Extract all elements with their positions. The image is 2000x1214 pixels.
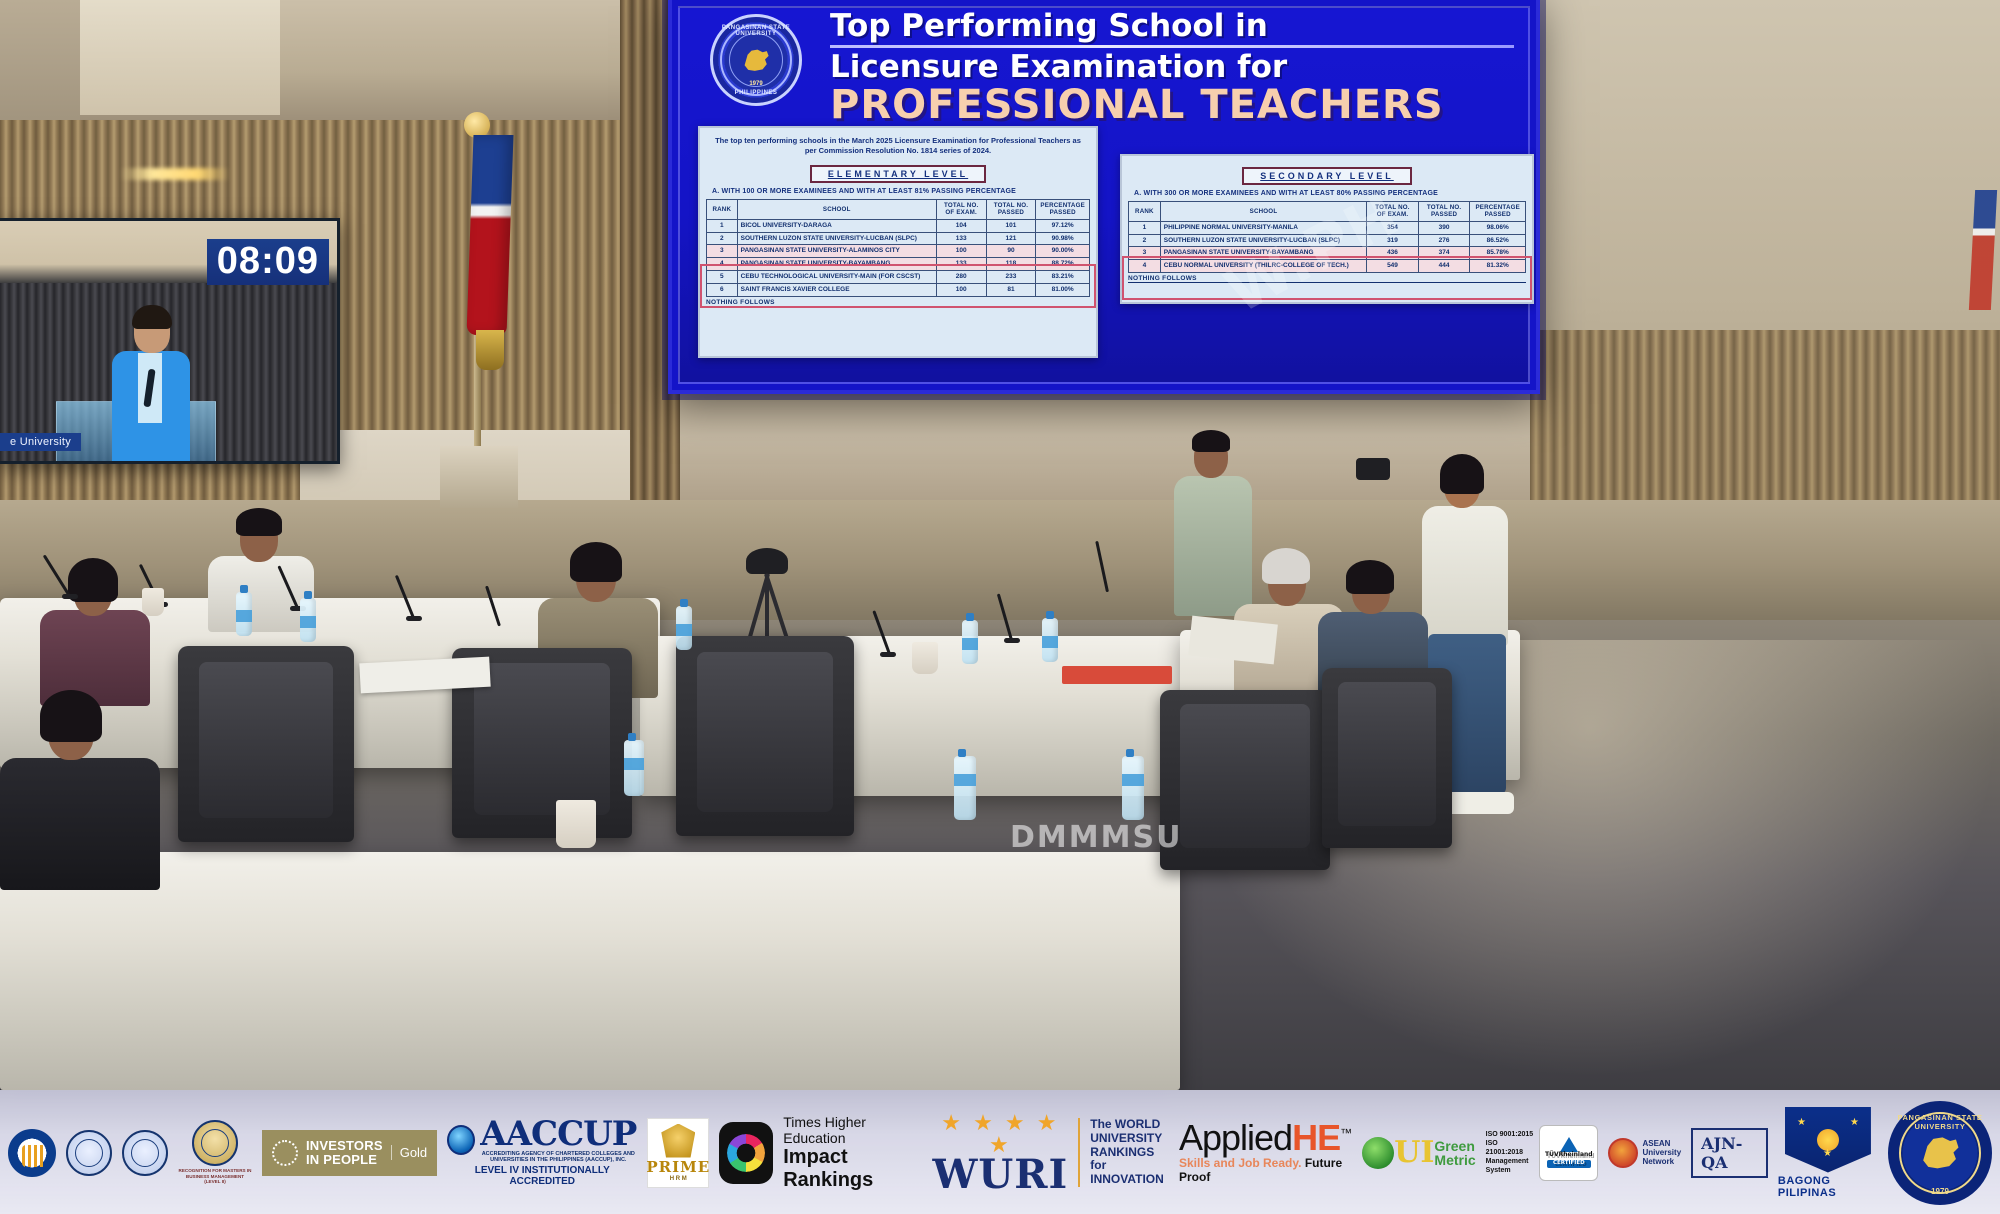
greenmetric-globe-icon [1362,1137,1394,1169]
the-line1: Times Higher Education [783,1114,922,1146]
aun-line1: ASEAN [1642,1139,1681,1148]
tuv-certified-badge: CERTIFIED [1547,1160,1591,1168]
table-row: 3 PANGASINAN STATE UNIVERSITY-BAYAMBANG … [1129,247,1526,260]
cell-rank: 3 [1129,247,1161,260]
cell-exam: 100 [936,283,986,296]
applied-block: AppliedHE™ Skills and Job Ready. Future … [1179,1121,1352,1183]
col-school: SCHOOL [737,200,936,220]
cell-school: PHILIPPINE NORMAL UNIVERSITY-MANILA [1160,221,1366,234]
aaccup-subtitle: ACCREDITING AGENCY OF CHARTERED COLLEGES… [479,1151,637,1163]
cell-school: SAINT FRANCIS XAVIER COLLEGE [737,283,936,296]
psu-seal-icon [122,1130,168,1176]
table-row: 1 PHILIPPINE NORMAL UNIVERSITY-MANILA 35… [1129,221,1526,234]
wuri-block: ★ ★ ★ ★ ★ WURI [932,1112,1068,1194]
water-bottle [1042,618,1058,662]
cell-passed: 390 [1418,221,1470,234]
cell-rank: 2 [1129,234,1161,247]
water-bottle [300,598,316,642]
star-icon: ★ [1797,1117,1806,1128]
coffee-cup [142,588,164,616]
table-row: 6 SAINT FRANCIS XAVIER COLLEGE 100 81 81… [707,283,1090,296]
cell-school: BICOL UNIVERSITY-DARAGA [737,219,936,232]
iip-block: INVESTORS IN PEOPLE Gold [262,1130,437,1176]
aun-line2: University [1642,1148,1681,1157]
cell-school: PANGASINAN STATE UNIVERSITY-BAYAMBANG [737,258,936,271]
cell-school: SOUTHERN LUZON STATE UNIVERSITY-LUCBAN (… [1160,234,1366,247]
cell-pct: 81.32% [1470,260,1526,273]
flag-cloth [467,135,514,335]
cell-pct: 98.06% [1470,221,1526,234]
table-row: 3 PANGASINAN STATE UNIVERSITY-ALAMINOS C… [707,245,1090,258]
water-bottle [962,620,978,664]
tripod-camera-head [746,548,788,574]
secondary-table-body: 1 PHILIPPINE NORMAL UNIVERSITY-MANILA 35… [1129,221,1526,272]
iso-text-block: ISO 9001:2015 ISO 21001:2018 Management … [1486,1130,1533,1175]
col-rank: RANK [1129,202,1161,222]
wreath-icon [272,1140,298,1166]
bagong-label: BAGONG PILIPINAS [1778,1175,1878,1199]
cell-passed: 90 [986,245,1036,258]
cell-exam: 436 [1367,247,1419,260]
screenshot-root: 08:09 e University PANGASINAN STATE UNIV… [0,0,2000,1214]
psu-seal-year: 1979 [1891,1187,1989,1196]
slide-title-line1: Top Performing School in [830,10,1514,43]
the-text-block: Times Higher Education Impact Rankings [783,1114,922,1192]
cell-pct: 97.12% [1036,219,1090,232]
wuri-stars: ★ ★ ★ ★ ★ [932,1112,1068,1156]
cell-pct: 85.78% [1470,247,1526,260]
ui-greenmetric-logo: UI Green Metric [1362,1107,1475,1199]
delegate-top [0,758,160,890]
water-bottle [236,592,252,636]
secondary-criteria: A. WITH 300 OR MORE EXAMINEES AND WITH A… [1134,190,1526,197]
aaccup-logo: AACCUP ACCREDITING AGENCY OF CHARTERED C… [447,1107,637,1199]
coffee-cup [556,800,596,848]
delegate [0,690,160,890]
ched-seal-logo [66,1107,112,1199]
water-bottle [954,756,976,820]
title-rule [830,45,1514,48]
aaccup-globe-icon [447,1125,475,1155]
cell-passed: 118 [986,258,1036,271]
iso-line1: ISO 9001:2015 [1486,1130,1533,1139]
aaccup-name: AACCUP [479,1118,637,1150]
water-bottle [676,606,692,650]
tv-monitor: 08:09 e University [0,218,340,464]
recognition-award-icon [192,1120,238,1166]
cell-school: PANGASINAN STATE UNIVERSITY-ALAMINOS CIT… [737,245,936,258]
col-total-passed: TOTAL NO. PASSED [986,200,1036,220]
psu-main-seal-icon: PANGASINAN STATE UNIVERSITY 1979 [1888,1101,1992,1205]
col-percentage: PERCENTAGE PASSED [1470,202,1526,222]
cell-pct: 88.72% [1036,258,1090,271]
cell-passed: 374 [1418,247,1470,260]
col-total-passed: TOTAL NO. PASSED [1418,202,1470,222]
elementary-criteria: A. WITH 100 OR MORE EXAMINEES AND WITH A… [712,188,1090,195]
table-row: 5 CEBU TECHNOLOGICAL UNIVERSITY-MAIN (FO… [707,271,1090,284]
cell-passed: 81 [986,283,1036,296]
asean-university-network-logo: ASEAN University Network [1608,1107,1681,1199]
iso-certification-logo: ISO 9001:2015 ISO 21001:2018 Management … [1486,1107,1599,1199]
cell-school: CEBU TECHNOLOGICAL UNIVERSITY-MAIN (FOR … [737,271,936,284]
iso-line3: Management [1486,1157,1533,1166]
iip-gold-label: Gold [391,1145,427,1160]
psu-seal-top-text: PANGASINAN STATE UNIVERSITY [1891,1113,1989,1131]
col-total-exam: TOTAL NO. OF EXAM. [1367,202,1419,222]
aun-text: ASEAN University Network [1642,1139,1681,1167]
seal-bottom-text: PHILIPPINES [713,90,799,96]
aun-line3: Network [1642,1157,1681,1166]
video-camera-icon [1356,458,1390,480]
ajn-qa-logo: AJN-QA [1691,1107,1768,1199]
cell-exam: 319 [1367,234,1419,247]
cell-rank: 1 [1129,221,1161,234]
wuri-word: WURI [932,1156,1068,1194]
secondary-rank-table: RANK SCHOOL TOTAL NO. OF EXAM. TOTAL NO.… [1128,201,1526,273]
delegate-hair [236,508,282,536]
cell-exam: 133 [936,258,986,271]
elementary-table-body: 1 BICOL UNIVERSITY-DARAGA 104 101 97.12%… [707,219,1090,296]
coffee-cup [912,642,938,674]
cell-pct: 90.00% [1036,245,1090,258]
iip-text: INVESTORS IN PEOPLE [306,1139,383,1166]
applied-tm: ™ [1340,1126,1351,1140]
recognition-award-logo: RECOGNITION FOR MASTERS IN BUSINESS MANA… [178,1107,252,1199]
investors-in-people-logo: INVESTORS IN PEOPLE Gold [262,1107,437,1199]
cell-exam: 280 [936,271,986,284]
microphone-base [880,652,896,657]
elementary-level-badge: ELEMENTARY LEVEL [810,165,986,183]
star-icon: ★ [1850,1117,1859,1128]
aaccup-row: AACCUP ACCREDITING AGENCY OF CHARTERED C… [447,1118,637,1162]
delegate [40,558,150,708]
cell-pct: 81.00% [1036,283,1090,296]
iip-line2: IN PEOPLE [306,1153,383,1167]
flag-tassel [476,330,504,370]
ui-wordmark: UI [1394,1139,1434,1166]
iso-line2: ISO 21001:2018 [1486,1139,1533,1157]
iip-line1: INVESTORS [306,1139,383,1153]
wuri-row: ★ ★ ★ ★ ★ WURI The WORLD UNIVERSITY RANK… [932,1112,1169,1194]
presenter-hair [1192,430,1230,452]
cell-passed: 121 [986,232,1036,245]
cell-rank: 3 [707,245,738,258]
cell-rank: 4 [1129,260,1161,273]
greenmetric-text: Green Metric [1434,1139,1475,1167]
cell-pct: 83.21% [1036,271,1090,284]
prime-block: PRIME H R M [647,1118,709,1188]
the-hex-icon [727,1134,765,1172]
chair [1322,668,1452,848]
table-row: 4 CEBU NORMAL UNIVERSITY (THILRC-COLLEGE… [1129,260,1526,273]
papers-stack [1062,666,1172,684]
microphone-base [406,616,422,621]
greenmetric-green: Green [1434,1139,1475,1153]
seal-year: 1979 [713,81,799,87]
bagong-badge-icon: ★ ★ ★ [1785,1107,1871,1173]
cell-rank: 1 [707,219,738,232]
cell-school: PANGASINAN STATE UNIVERSITY-BAYAMBANG [1160,247,1366,260]
chair [178,646,354,842]
delegate-hair [1346,560,1394,594]
delegate-hair [570,542,622,582]
cell-exam: 133 [936,232,986,245]
wuri-logo: ★ ★ ★ ★ ★ WURI The WORLD UNIVERSITY RANK… [932,1107,1169,1199]
bagong-block: ★ ★ ★ BAGONG PILIPINAS [1778,1107,1878,1199]
cell-exam: 104 [936,219,986,232]
cell-school: CEBU NORMAL UNIVERSITY (THILRC-COLLEGE O… [1160,260,1366,273]
countdown-timer: 08:09 [207,239,329,285]
pangasinan-state-university-logo: PANGASINAN STATE UNIVERSITY 1979 [1888,1107,1992,1199]
cell-rank: 2 [707,232,738,245]
videographer-hair [1440,454,1484,494]
cell-exam: 549 [1367,260,1419,273]
slide-title: Top Performing School in Licensure Exami… [830,10,1514,126]
cell-school: SOUTHERN LUZON STATE UNIVERSITY-LUCBAN (… [737,232,936,245]
table-header-row: RANK SCHOOL TOTAL NO. OF EXAM. TOTAL NO.… [707,200,1090,220]
greenmetric-metric: Metric [1434,1153,1475,1167]
table-row: 1 BICOL UNIVERSITY-DARAGA 104 101 97.12% [707,219,1090,232]
table-header-row: RANK SCHOOL TOTAL NO. OF EXAM. TOTAL NO.… [1129,202,1526,222]
tuv-rheinland-block: TÜVRheinland CERTIFIED [1539,1125,1598,1181]
venue-floor-text: DMMMSU [1010,820,1182,855]
microphone-base [62,594,78,599]
seal-top-text: PANGASINAN STATE UNIVERSITY [713,25,799,37]
recognition-award-label: RECOGNITION FOR MASTERS IN BUSINESS MANA… [178,1168,252,1185]
prime-word: PRIME [646,1158,710,1176]
partner-logo-bar: RECOGNITION FOR MASTERS IN BUSINESS MANA… [0,1090,2000,1214]
prime-hrm-logo: PRIME H R M [647,1107,709,1199]
aun-globe-icon [1608,1138,1638,1168]
slide-title-line3: PROFESSIONAL TEACHERS [830,84,1514,126]
applied-a: Applied [1179,1117,1292,1158]
table-row: 2 SOUTHERN LUZON STATE UNIVERSITY-LUCBAN… [1129,234,1526,247]
col-total-exam: TOTAL NO. OF EXAM. [936,200,986,220]
cell-passed: 233 [986,271,1036,284]
tv-lower-third-caption: e University [0,433,81,451]
col-school: SCHOOL [1160,202,1366,222]
cell-exam: 354 [1367,221,1419,234]
tuv-triangle-icon [1560,1137,1578,1152]
tuv-name: TÜVRheinland [1545,1152,1593,1158]
appliedhe-logo: AppliedHE™ Skills and Job Ready. Future … [1179,1107,1352,1199]
flag-base [440,446,518,508]
col-percentage: PERCENTAGE PASSED [1036,200,1090,220]
aaccup-level: LEVEL IV INSTITUTIONALLY ACCREDITED [447,1165,637,1187]
secondary-level-panel: SECONDARY LEVEL A. WITH 300 OR MORE EXAM… [1120,154,1534,304]
applied-sub1: Skills and Job Ready. [1179,1156,1301,1170]
cell-exam: 100 [936,245,986,258]
asean-logo [8,1107,56,1199]
cell-pct: 90.98% [1036,232,1090,245]
applied-b: HE [1292,1117,1340,1158]
table-row: 4 PANGASINAN STATE UNIVERSITY-BAYAMBANG … [707,258,1090,271]
microphone-base [1004,638,1020,643]
videographer-top [1422,506,1508,646]
slide-note: The top ten performing schools in the Ma… [714,136,1082,156]
chair [1160,690,1330,870]
delegate-hair [40,690,102,742]
cell-pct: 86.52% [1470,234,1526,247]
prime-crest-icon [661,1124,695,1158]
elementary-level-panel: The top ten performing schools in the Ma… [698,126,1098,358]
the-mark-icon [719,1122,773,1184]
iso-line4: System [1486,1166,1533,1175]
water-bottle [624,740,644,796]
table-row: 2 SOUTHERN LUZON STATE UNIVERSITY-LUCBAN… [707,232,1090,245]
tv-scene-speaker [110,309,190,464]
slide: PANGASINAN STATE UNIVERSITY 1979 PHILIPP… [678,6,1530,384]
cell-rank: 4 [707,258,738,271]
cell-passed: 276 [1418,234,1470,247]
asean-icon [8,1129,56,1177]
elementary-rank-table: RANK SCHOOL TOTAL NO. OF EXAM. TOTAL NO.… [706,199,1090,297]
secondary-level-badge: SECONDARY LEVEL [1242,167,1412,185]
psu-circle-logo [122,1107,168,1199]
speaker-hair [132,305,172,329]
applied-tagline: Skills and Job Ready. Future Proof [1179,1156,1352,1184]
aaccup-block: AACCUP ACCREDITING AGENCY OF CHARTERED C… [447,1118,637,1186]
cell-rank: 5 [707,271,738,284]
ched-seal-icon [66,1130,112,1176]
secondary-nothing-follows: NOTHING FOLLOWS [1128,275,1526,283]
prime-sub: H R M [670,1176,687,1182]
water-bottle [1122,756,1144,820]
chair [676,636,854,836]
projection-screen: PANGASINAN STATE UNIVERSITY 1979 PHILIPP… [668,0,1540,394]
ceiling-slab [70,0,280,115]
cell-rank: 6 [707,283,738,296]
wall-light [120,168,230,180]
wuri-side-text: The WORLD UNIVERSITY RANKINGS for INNOVA… [1078,1118,1169,1188]
times-higher-education-logo: Times Higher Education Impact Rankings [719,1107,922,1199]
slide-title-line2: Licensure Examination for [830,51,1514,84]
delegate-hair [1262,548,1310,584]
the-line2: Impact Rankings [783,1146,922,1192]
cell-passed: 101 [986,219,1036,232]
elementary-nothing-follows: NOTHING FOLLOWS [706,299,1090,307]
bagong-pilipinas-logo: ★ ★ ★ BAGONG PILIPINAS [1778,1107,1878,1199]
university-seal-icon: PANGASINAN STATE UNIVERSITY 1979 PHILIPP… [710,14,802,106]
conference-table-front [0,852,1180,1090]
cell-passed: 444 [1418,260,1470,273]
applied-wordmark: AppliedHE™ [1179,1121,1352,1155]
col-rank: RANK [707,200,738,220]
delegate-top [208,556,314,632]
ajn-qa-wordmark: AJN-QA [1691,1128,1768,1178]
star-icon: ★ [1823,1148,1832,1159]
